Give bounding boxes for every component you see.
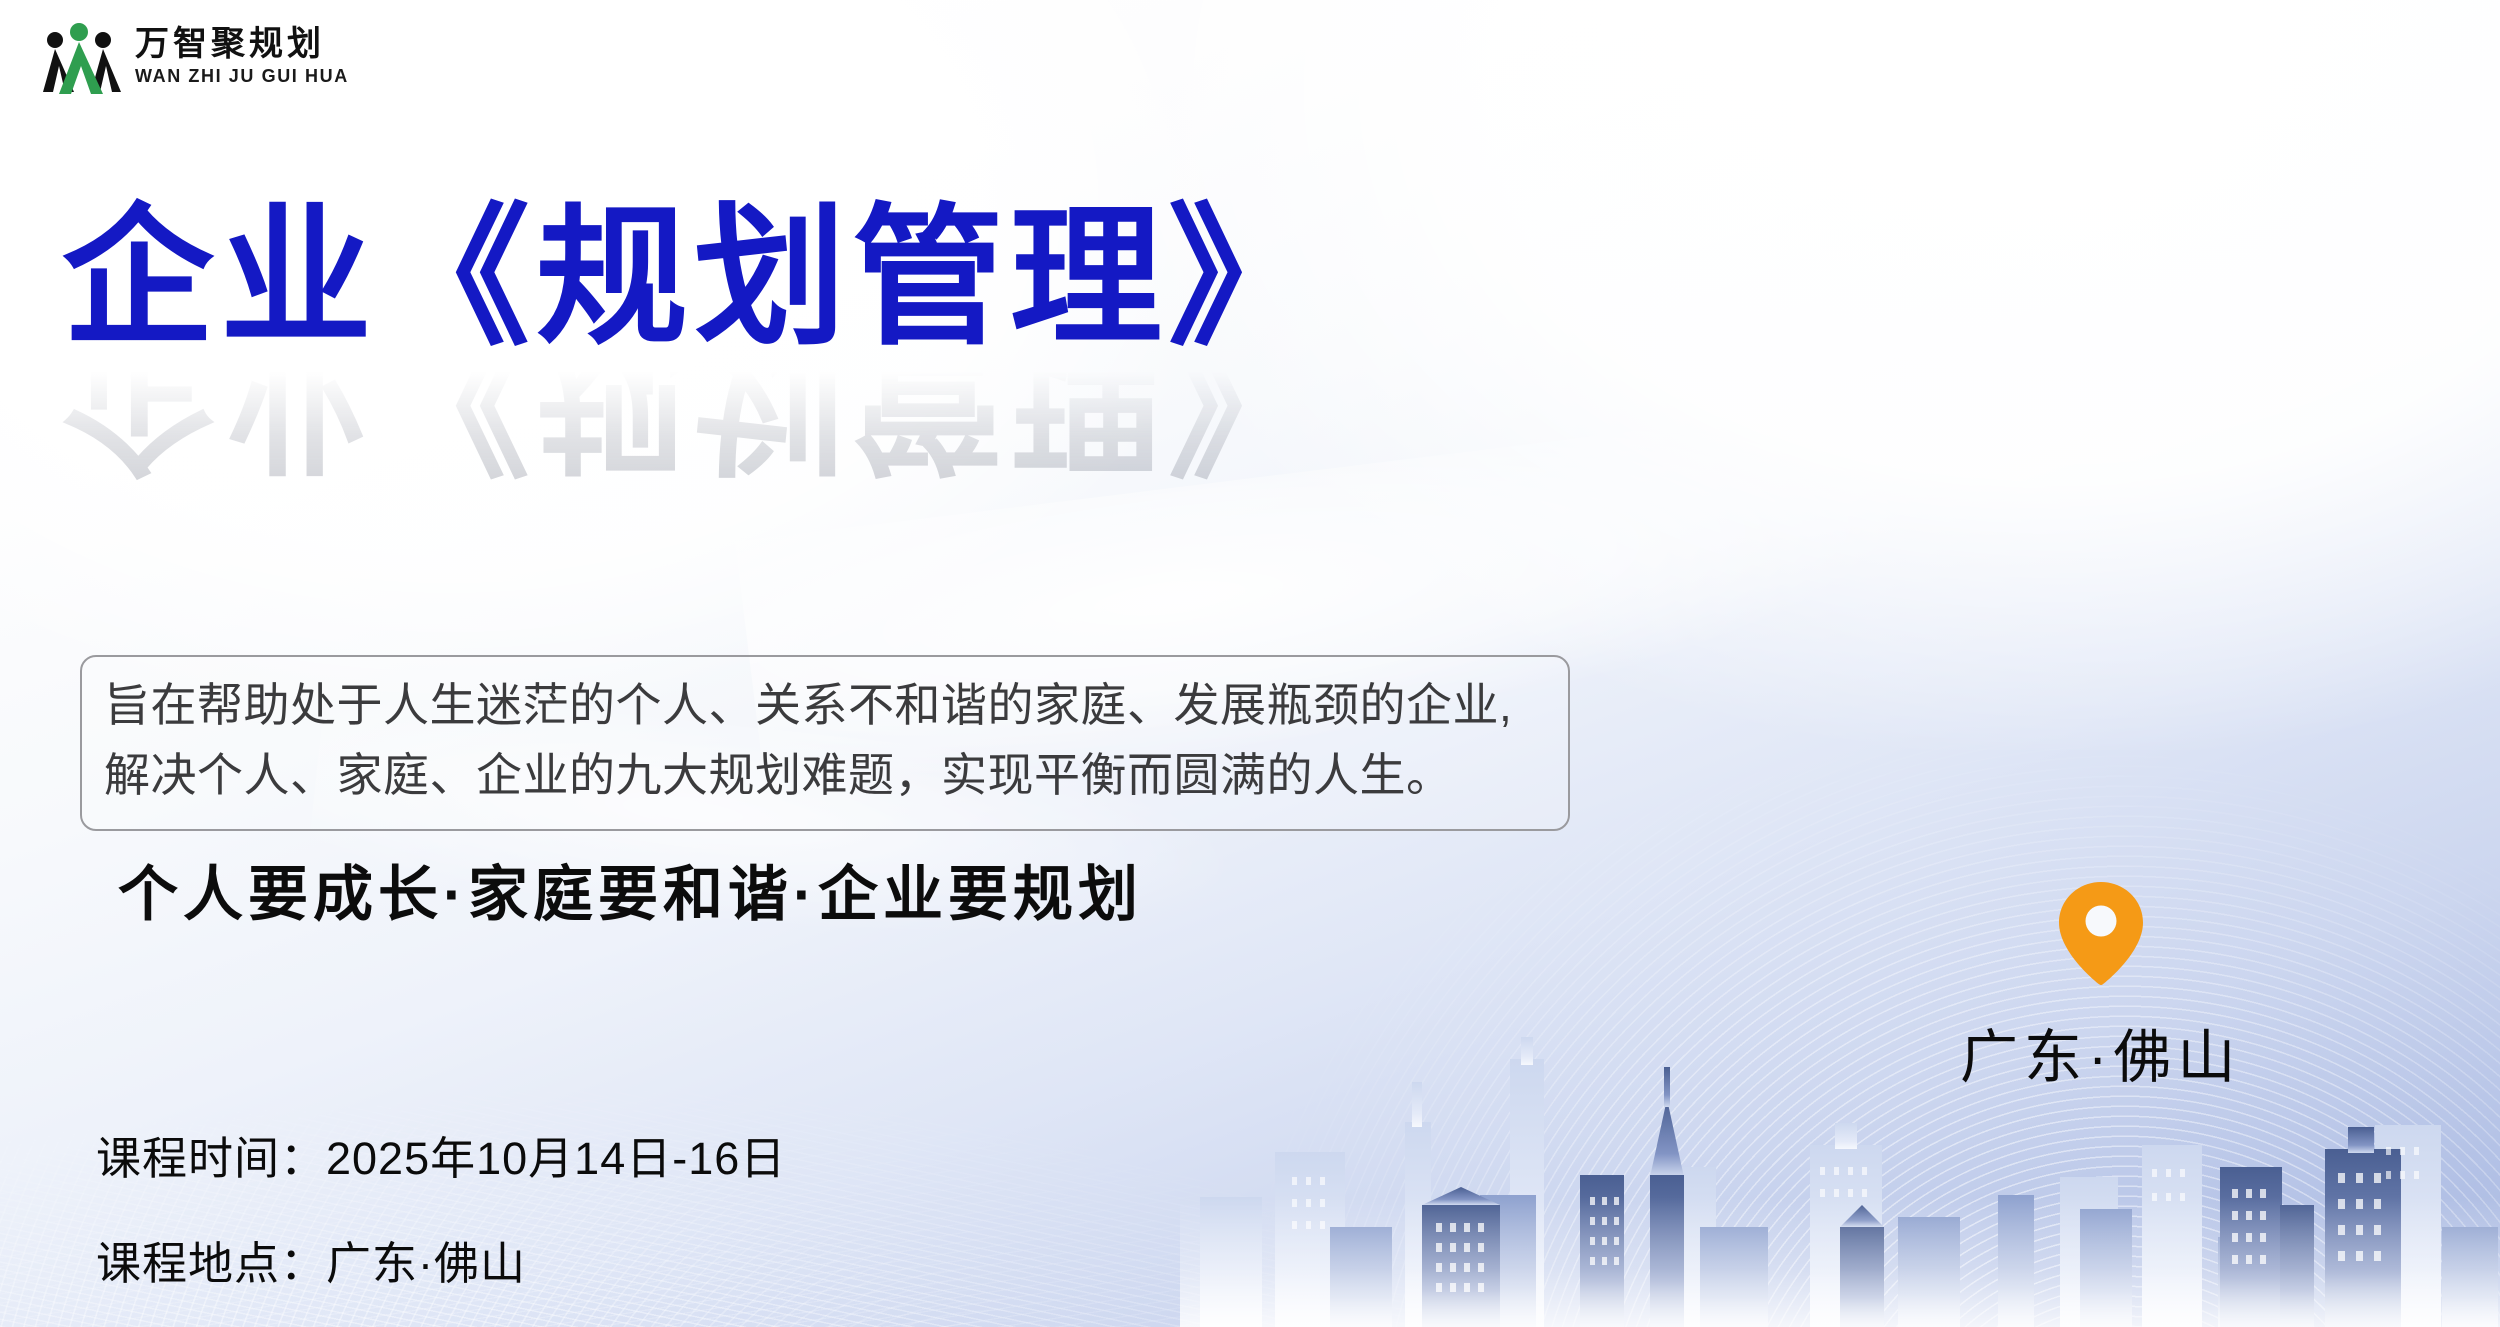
brand-name-cn: 万智聚规划 [135,27,349,63]
map-pin-icon [2055,880,2147,986]
page-title: 企业《规划管理》 [62,196,1562,360]
hero-title-block: 企业《规划管理》 企业《规划管理》 [62,196,1562,482]
location-city-label: 广东·佛山 [1960,1010,2241,1094]
course-info-block: 课程时间：2025年10月14日-16日 课程地点：广东·佛山 [96,1122,786,1292]
brand-logo-text: 万智聚规划 WAN ZHI JU GUI HUA [135,27,349,88]
description-box: 旨在帮助处于人生迷茫的个人、关系不和谐的家庭、发展瓶颈的企业, 解决个人、家庭、… [80,655,1570,831]
description-line-2: 解决个人、家庭、企业的九大规划难题，实现平衡而圆满的人生。 [104,741,1546,811]
three-people-logo-icon [35,18,123,96]
description-line-1: 旨在帮助处于人生迷茫的个人、关系不和谐的家庭、发展瓶颈的企业, [104,671,1546,741]
brand-name-en: WAN ZHI JU GUI HUA [135,66,349,87]
location-block: 广东·佛山 [1960,880,2241,1094]
page-title-reflection: 企业《规划管理》 [62,362,1562,482]
city-skyline-illustration [1180,1027,2500,1327]
course-place-row: 课程地点：广东·佛山 [96,1227,786,1292]
brand-logo: 万智聚规划 WAN ZHI JU GUI HUA [35,18,349,96]
slogan-text: 个人要成长·家庭要和谐·企业要规划 [118,846,1143,933]
course-time-row: 课程时间：2025年10月14日-16日 [96,1122,786,1187]
poster-canvas: 万智聚规划 WAN ZHI JU GUI HUA 企业《规划管理》 企业《规划管… [0,0,2500,1327]
